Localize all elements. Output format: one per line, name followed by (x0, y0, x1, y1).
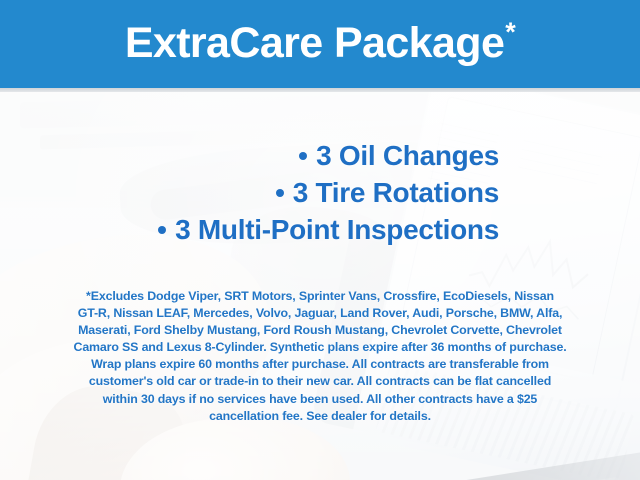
bullet-dot-icon (158, 226, 166, 234)
disclaimer-line: cancellation fee. See dealer for details… (22, 408, 618, 425)
list-item: 3 Oil Changes (299, 138, 499, 175)
header-divider (0, 88, 640, 92)
disclaimer-line: Wrap plans expire 60 months after purcha… (22, 356, 618, 373)
disclaimer-line: Maserati, Ford Shelby Mustang, Ford Rous… (22, 322, 618, 339)
disclaimer-line: customer's old car or trade-in to their … (22, 373, 618, 390)
disclaimer-line: *Excludes Dodge Viper, SRT Motors, Sprin… (22, 288, 618, 305)
disclaimer-line: within 30 days if no services have been … (22, 391, 618, 408)
list-item: 3 Multi-Point Inspections (158, 212, 499, 249)
disclaimer-text: *Excludes Dodge Viper, SRT Motors, Sprin… (22, 288, 618, 425)
benefit-label: 3 Multi-Point Inspections (175, 212, 499, 249)
disclaimer-line: GT-R, Nissan LEAF, Mercedes, Volvo, Jagu… (22, 305, 618, 322)
benefit-label: 3 Tire Rotations (293, 175, 499, 212)
bullet-dot-icon (276, 189, 284, 197)
benefits-list: 3 Oil Changes 3 Tire Rotations 3 Multi-P… (0, 138, 640, 249)
header-banner: ExtraCare Package* (0, 0, 640, 88)
disclaimer-line: Camaro SS and Lexus 8-Cylinder. Syntheti… (22, 339, 618, 356)
benefit-label: 3 Oil Changes (316, 138, 499, 175)
bullet-dot-icon (299, 152, 307, 160)
page-title-text: ExtraCare Package (125, 19, 504, 67)
extracare-package-poster: ExtraCare Package* 3 Oil Changes 3 Tire … (0, 0, 640, 480)
list-item: 3 Tire Rotations (276, 175, 499, 212)
page-title: ExtraCare Package* (125, 22, 515, 65)
page-title-asterisk: * (505, 17, 515, 47)
